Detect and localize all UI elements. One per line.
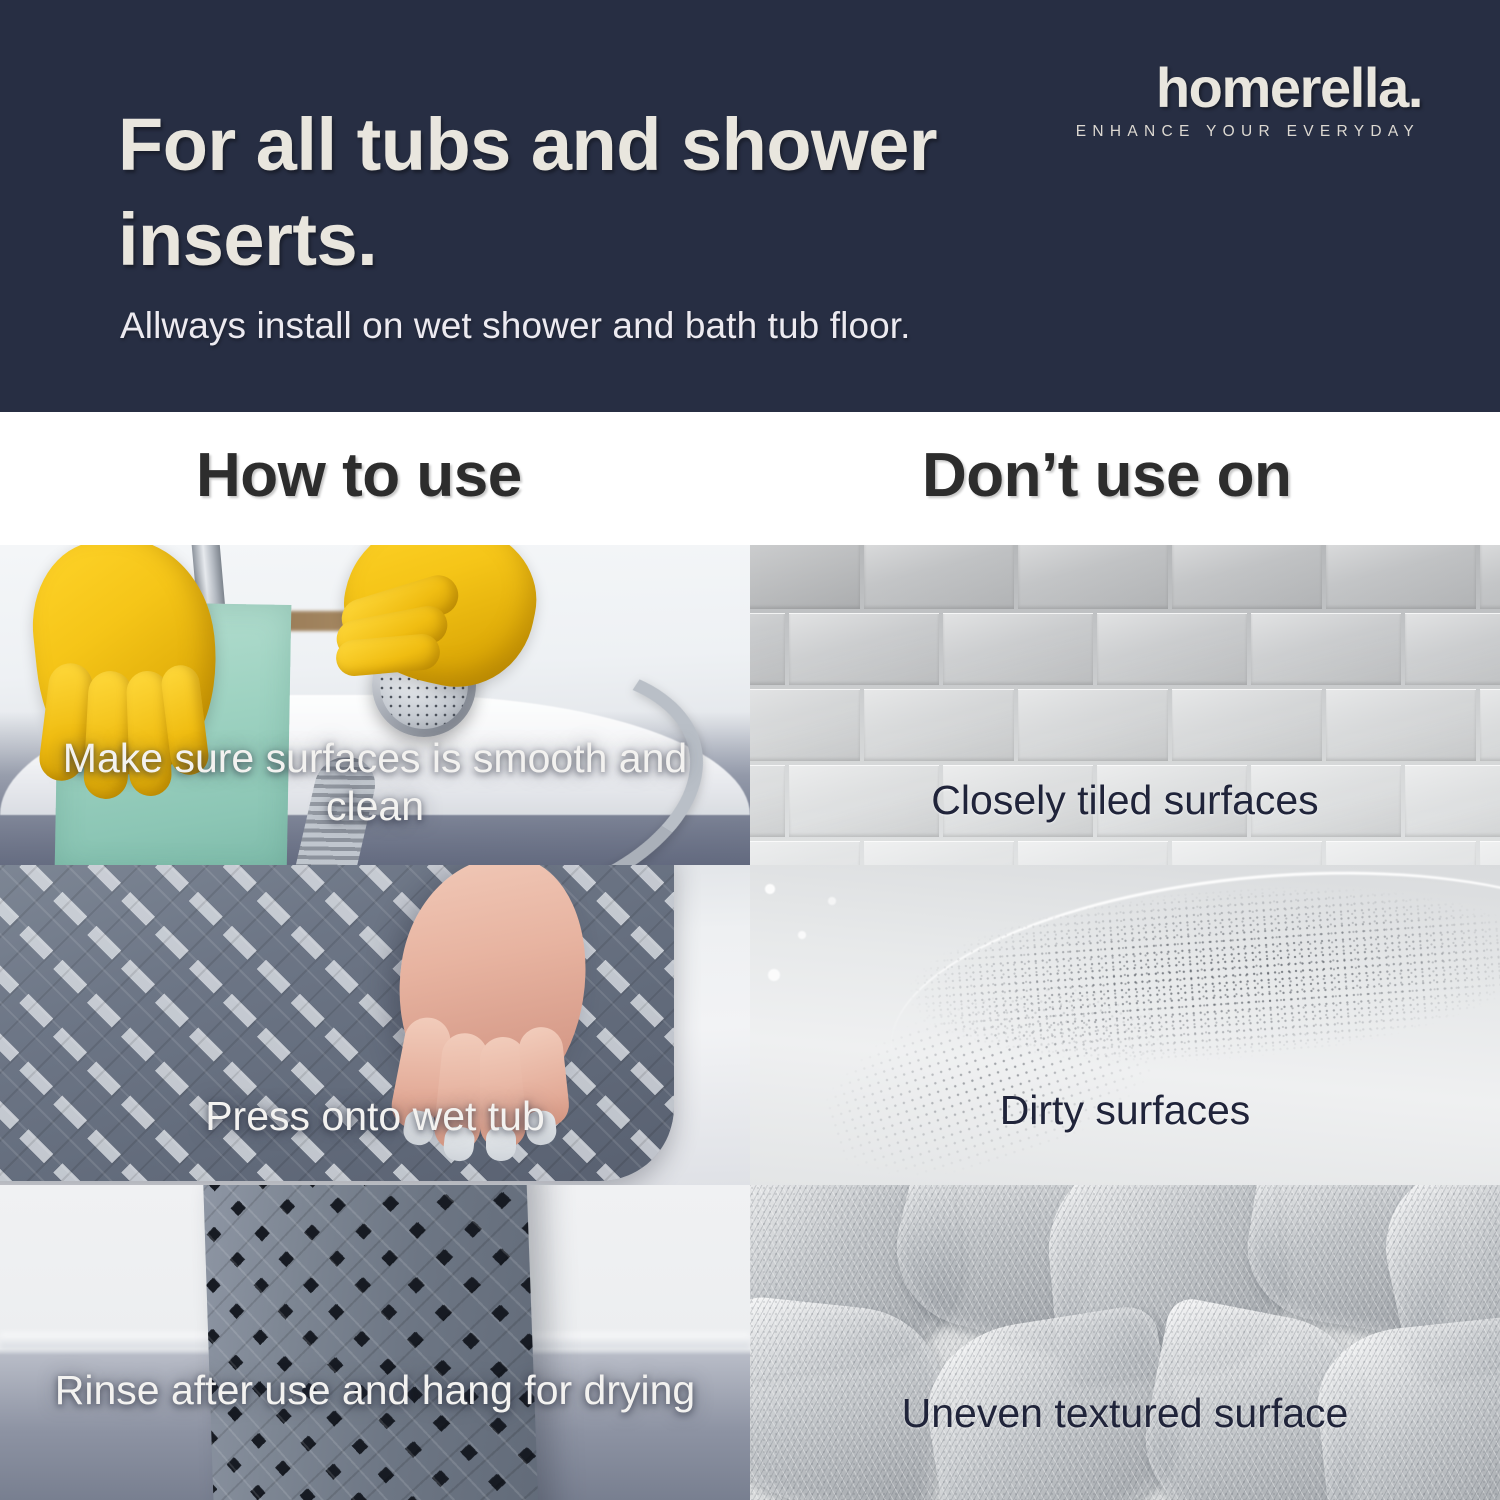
avoid-caption: Uneven textured surface: [750, 1390, 1500, 1438]
mat-emboss-pattern: [203, 1185, 539, 1500]
step-cell-rinse-and-hang: Rinse after use and hang for drying: [0, 1185, 750, 1500]
tile-row: [750, 613, 1500, 685]
step-cell-press-onto-tub: Press onto wet tub: [0, 865, 750, 1185]
avoid-caption: Dirty surfaces: [750, 1087, 1500, 1135]
section-title-bar: How to use Don’t use on: [0, 412, 1500, 545]
step-caption: Make sure surfaces is smooth and clean: [0, 735, 750, 830]
photo-dirty-tub: [750, 865, 1500, 1185]
texture-speckle-overlay: [750, 1185, 1500, 1500]
step-cell-clean-surface: Make sure surfaces is smooth and clean: [0, 545, 750, 865]
avoid-cell-tiled-surfaces: Closely tiled surfaces: [750, 545, 1500, 865]
brand-logo: homerella. ENHANCE YOUR EVERYDAY: [1022, 60, 1422, 141]
tile-row: [750, 545, 1500, 609]
photo-uneven-textured-surface: [750, 1185, 1500, 1500]
brand-tagline: ENHANCE YOUR EVERYDAY: [1022, 123, 1422, 141]
section-title-dont-use-on: Don’t use on: [922, 440, 1291, 511]
avoid-cell-uneven-texture: Uneven textured surface: [750, 1185, 1500, 1500]
page-subtitle: Allways install on wet shower and bath t…: [120, 305, 911, 347]
hanging-bath-mat-shape: [203, 1185, 539, 1500]
section-title-how-to-use: How to use: [196, 440, 522, 511]
step-caption: Press onto wet tub: [0, 1093, 750, 1141]
photo-mat-hanging: [0, 1185, 750, 1500]
tile-row: [750, 841, 1500, 865]
tile-row: [750, 689, 1500, 761]
header-banner: For all tubs and shower inserts. Allways…: [0, 0, 1500, 412]
avoid-caption: Closely tiled surfaces: [750, 777, 1500, 825]
brand-name: homerella.: [1022, 60, 1422, 116]
infographic-page: For all tubs and shower inserts. Allways…: [0, 0, 1500, 1500]
photo-grid: Make sure surfaces is smooth and clean: [0, 545, 1500, 1500]
avoid-cell-dirty-surfaces: Dirty surfaces: [750, 865, 1500, 1185]
page-title: For all tubs and shower inserts.: [118, 98, 938, 287]
step-caption: Rinse after use and hang for drying: [0, 1367, 750, 1415]
water-droplets-icon: [750, 865, 910, 1045]
